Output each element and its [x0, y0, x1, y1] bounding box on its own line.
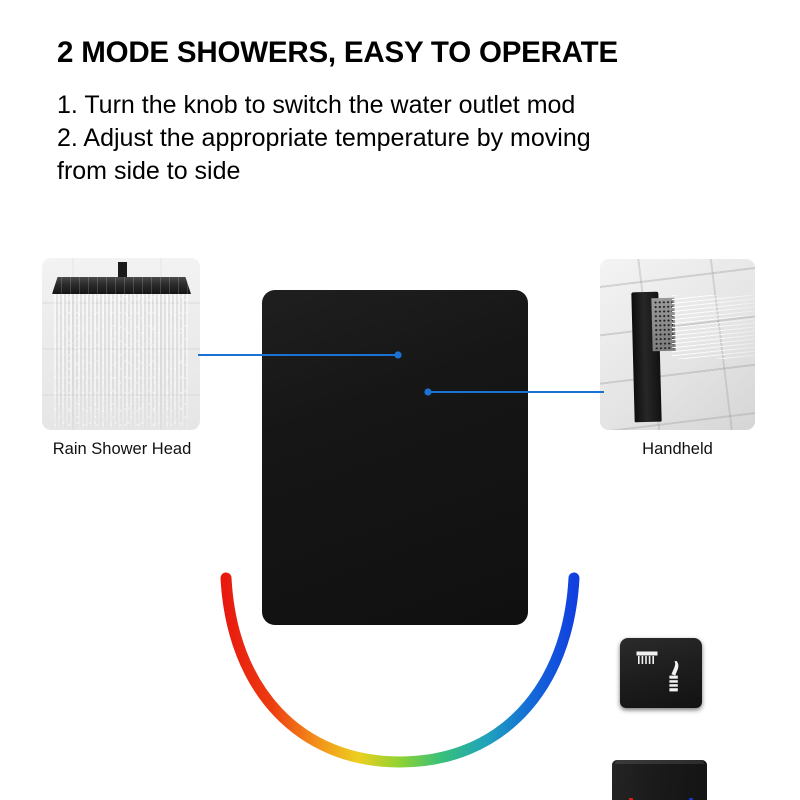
temperature-lever-handle[interactable]	[612, 760, 707, 800]
instruction-step-1: 1. Turn the knob to switch the water out…	[57, 89, 697, 122]
handheld-thumbnail	[600, 259, 755, 430]
handheld-caption: Handheld	[600, 440, 755, 459]
spray-nozzle-dots	[653, 300, 673, 349]
rain-shower-caption: Rain Shower Head	[34, 440, 210, 459]
lever-top-edge	[615, 760, 704, 764]
water-droplets	[54, 294, 188, 428]
shower-head-ribs	[52, 277, 191, 294]
rain-shower-head-body	[52, 277, 191, 294]
shower-arm-stem	[118, 262, 127, 278]
shower-valve-trim-plate	[262, 290, 528, 625]
rain-shower-icon	[636, 651, 658, 665]
handheld-shower-icon	[665, 660, 682, 694]
rain-shower-thumbnail	[42, 258, 200, 430]
infographic-page: 2 MODE SHOWERS, EASY TO OPERATE 1. Turn …	[0, 0, 800, 800]
mode-diverter-knob[interactable]	[620, 638, 702, 708]
instruction-step-2: 2. Adjust the appropriate temperature by…	[57, 122, 697, 155]
instruction-list: 1. Turn the knob to switch the water out…	[57, 89, 697, 188]
instruction-step-2-cont: from side to side	[57, 155, 697, 188]
page-title: 2 MODE SHOWERS, EASY TO OPERATE	[57, 36, 777, 70]
handheld-water-spray	[672, 295, 755, 359]
